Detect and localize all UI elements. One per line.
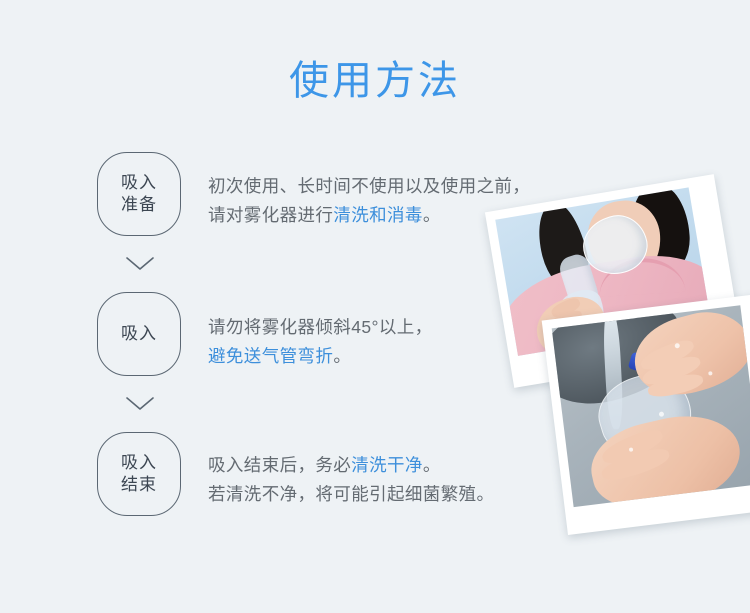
step-description-3-line-2: 若清洗不净，将可能引起细菌繁殖。 <box>208 480 494 509</box>
step-badge-inhale: 吸入 <box>97 292 181 376</box>
step-description-1-line-1: 初次使用、长时间不使用以及使用之前， <box>208 172 530 201</box>
text-period: 。 <box>423 455 441 475</box>
text-highlight: 清洗干净 <box>351 455 423 475</box>
badge-line-secondary: 准备 <box>121 194 157 216</box>
badge-line-secondary: 结束 <box>121 474 157 496</box>
step-badge-inhale-finish: 吸入 结束 <box>97 432 181 516</box>
badge-line-primary: 吸入 <box>121 172 157 194</box>
chevron-down-icon <box>125 396 155 412</box>
step-connector-1 <box>97 236 183 292</box>
page-title: 使用方法 <box>0 56 750 106</box>
step-description-1: 初次使用、长时间不使用以及使用之前， 请对雾化器进行清洗和消毒。 <box>208 172 530 230</box>
step-badge-inhale-prepare: 吸入 准备 <box>97 152 181 236</box>
usage-instructions-page: 使用方法 吸入 准备 吸入 吸入 结束 <box>0 0 750 613</box>
washing-nebulizer-photo <box>542 293 750 535</box>
step-description-2: 请勿将雾化器倾斜45°以上， 避免送气管弯折。 <box>208 313 433 371</box>
text-period: 。 <box>423 205 441 225</box>
text-highlight: 清洗和消毒 <box>333 205 423 225</box>
step-description-2-line-1: 请勿将雾化器倾斜45°以上， <box>208 313 433 342</box>
step-description-3: 吸入结束后，务必清洗干净。 若清洗不净，将可能引起细菌繁殖。 <box>208 451 494 509</box>
step-description-3-line-1: 吸入结束后，务必清洗干净。 <box>208 451 494 480</box>
step-connector-2 <box>97 376 183 432</box>
text-plain: 请对雾化器进行 <box>208 205 333 225</box>
step-description-2-line-2: 避免送气管弯折。 <box>208 342 433 371</box>
text-period: 。 <box>333 346 351 366</box>
photo-collage <box>486 186 750 536</box>
badge-line-primary: 吸入 <box>121 452 157 474</box>
step-badge-column: 吸入 准备 吸入 吸入 结束 <box>97 152 183 516</box>
text-plain: 吸入结束后，务必 <box>208 455 351 475</box>
chevron-down-icon <box>125 256 155 272</box>
washing-nebulizer-photo-image <box>552 305 750 507</box>
badge-line-primary: 吸入 <box>121 323 157 345</box>
step-description-1-line-2: 请对雾化器进行清洗和消毒。 <box>208 201 530 230</box>
text-highlight: 避免送气管弯折 <box>208 346 333 366</box>
